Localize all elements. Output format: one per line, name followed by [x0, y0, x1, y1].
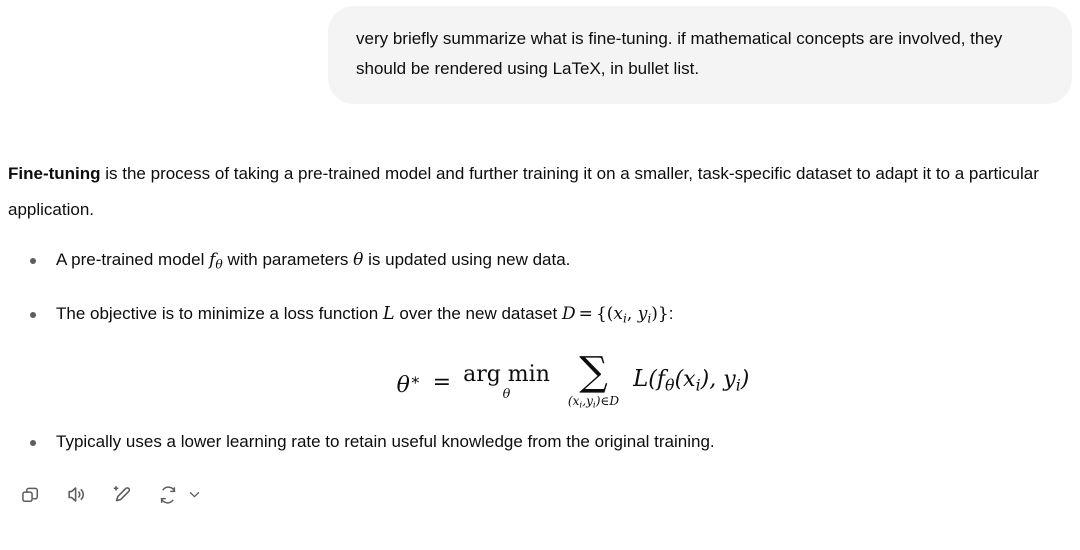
equation-body-f-subscript: θ: [665, 376, 675, 395]
math-f-subscript: θ: [215, 257, 222, 271]
bullet-2-math-dataset: D={(xi, yi)}: [562, 304, 669, 324]
bullet-2-math-loss-L: L: [383, 304, 395, 324]
display-equation-block: θ∗ = arg min θ ∑ (xi,yi)∈D L(fθ(xi), yi): [56, 355, 1070, 411]
list-item: A pre-trained model fθ with parameters θ…: [8, 242, 1070, 282]
chevron-down-icon: [187, 487, 202, 505]
equation-body-open-paren: (: [648, 367, 657, 392]
edit-sparkle-icon: [112, 484, 133, 508]
summation-limit: (xi,yi)∈D: [568, 395, 619, 410]
equation-theta: θ: [397, 373, 410, 398]
bullet-3-text: Typically uses a lower learning rate to …: [56, 432, 715, 451]
assistant-turn: Fine-tuning is the process of taking a p…: [0, 156, 1080, 510]
intro-lead-bold: Fine-tuning: [8, 164, 101, 183]
equation-body-f: f: [657, 367, 665, 392]
sum-limit-dataset: D: [609, 394, 619, 408]
equation-equals: =: [421, 365, 463, 401]
equation-body-close-paren: ): [741, 367, 750, 392]
bullet-1-math-theta: θ: [353, 250, 363, 270]
equation-body-x: x: [683, 367, 695, 392]
equation-argmin: arg min θ: [463, 364, 558, 402]
equation-list-item: θ∗ = arg min θ ∑ (xi,yi)∈D L(fθ(xi), yi): [8, 355, 1070, 411]
read-aloud-button[interactable]: [62, 482, 90, 510]
user-message-text: very briefly summarize what is fine-tuni…: [356, 24, 1042, 84]
bullet-1-text-2: with parameters: [223, 250, 353, 269]
list-item: Typically uses a lower learning rate to …: [8, 424, 1070, 460]
regenerate-icon: [158, 485, 178, 508]
math-D: D: [562, 304, 576, 324]
bullet-1-text-3: is updated using new data.: [363, 250, 570, 269]
user-turn: very briefly summarize what is fine-tuni…: [0, 0, 1080, 104]
sum-limit-y: y: [586, 394, 593, 408]
conversation-thread: very briefly summarize what is fine-tuni…: [0, 0, 1080, 550]
regenerate-button[interactable]: [154, 482, 182, 510]
model-options-button[interactable]: [184, 484, 204, 508]
copy-button[interactable]: [16, 482, 44, 510]
message-action-bar: [8, 482, 1070, 510]
bullet-2-text-3: :: [669, 304, 674, 323]
display-equation: θ∗ = arg min θ ∑ (xi,yi)∈D L(fθ(xi), yi): [397, 355, 750, 411]
math-equals: =: [576, 304, 596, 324]
equation-star: ∗: [410, 370, 421, 389]
sigma-icon: ∑: [579, 355, 608, 389]
math-comma: ,: [627, 304, 638, 324]
math-brace-close: )}: [651, 304, 668, 324]
equation-body-comma: ,: [709, 367, 723, 392]
bullet-1-math-f-theta: fθ: [209, 250, 223, 270]
equation-summation: ∑ (xi,yi)∈D: [558, 355, 629, 411]
argmin-limit: θ: [503, 389, 511, 402]
bullet-2-text-2: over the new dataset: [395, 304, 562, 323]
equation-body: L(fθ(xi), yi): [629, 361, 749, 403]
copy-icon: [20, 485, 40, 508]
equation-loss-L: L: [633, 366, 648, 392]
equation-body-y: y: [723, 367, 735, 392]
list-item: The objective is to minimize a loss func…: [8, 296, 1070, 336]
equation-body-inner-close-paren: ): [701, 367, 710, 392]
math-y: y: [638, 304, 648, 324]
bullet-1-text-1: A pre-trained model: [56, 250, 209, 269]
assistant-bullet-list: A pre-trained model fθ with parameters θ…: [8, 242, 1070, 460]
intro-rest-text: is the process of taking a pre-trained m…: [8, 164, 1039, 219]
regenerate-group: [154, 482, 204, 510]
equation-lhs: θ∗: [397, 362, 421, 404]
math-brace-open: {(: [596, 304, 613, 324]
bullet-2-text-1: The objective is to minimize a loss func…: [56, 304, 383, 323]
equation-body-inner-open-paren: (: [675, 367, 684, 392]
speaker-icon: [66, 484, 87, 508]
user-message-bubble[interactable]: very briefly summarize what is fine-tuni…: [328, 6, 1072, 104]
argmin-operator: arg min: [463, 364, 550, 386]
edit-in-canvas-button[interactable]: [108, 482, 136, 510]
assistant-intro-paragraph: Fine-tuning is the process of taking a p…: [8, 156, 1070, 228]
math-x: x: [613, 304, 623, 324]
